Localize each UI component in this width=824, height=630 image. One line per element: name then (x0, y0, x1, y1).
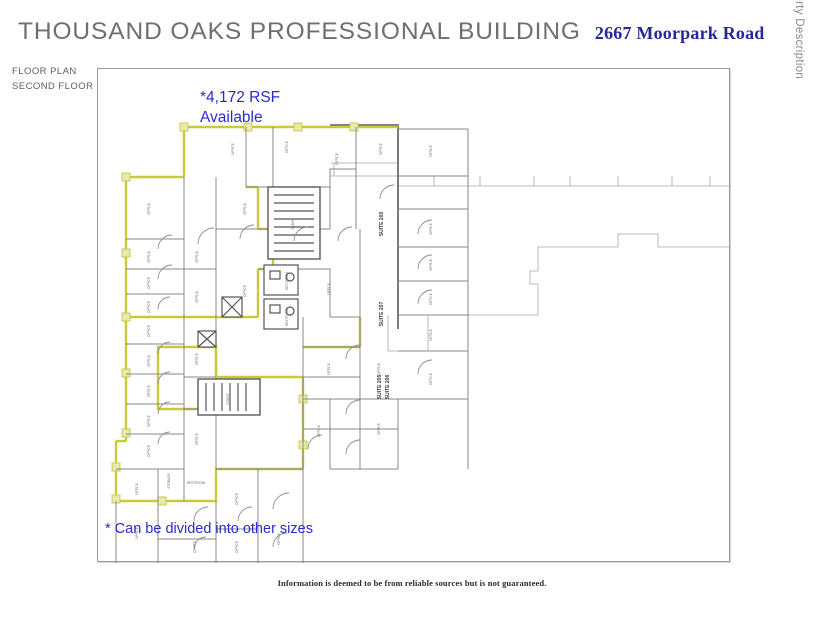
svg-text:OFFICE: OFFICE (147, 325, 151, 337)
right-wing-rooms (398, 129, 468, 469)
available-rsf-value: *4,172 RSF (200, 88, 280, 108)
svg-text:OFFICE: OFFICE (195, 291, 199, 303)
section-tab-property-description[interactable]: Property Description (794, 24, 816, 204)
svg-text:OFFICE: OFFICE (335, 153, 339, 165)
available-space-callout: *4,172 RSF Available (200, 88, 280, 128)
floor-plan-caption-line2: SECOND FLOOR (12, 79, 96, 94)
svg-text:OFFICE: OFFICE (429, 293, 433, 305)
floor-plan-panel: OFFICE OFFICE OFFICE OFFICE OFFICE OFFIC… (97, 68, 730, 562)
svg-text:STAIRS: STAIRS (291, 218, 295, 229)
svg-text:OFFICE: OFFICE (327, 283, 331, 295)
suite-label-200: SUITE 200 (379, 212, 385, 237)
svg-text:OFFICE: OFFICE (429, 223, 433, 235)
svg-text:STAIRS: STAIRS (226, 393, 230, 404)
svg-text:OFFICE: OFFICE (429, 145, 433, 157)
svg-text:OFFICE: OFFICE (195, 353, 199, 365)
svg-text:OFFICE: OFFICE (195, 251, 199, 263)
svg-text:OFFICE: OFFICE (193, 541, 197, 553)
svg-text:OFFICE: OFFICE (235, 541, 239, 553)
svg-text:OFFICE: OFFICE (429, 373, 433, 385)
svg-text:OFFICE: OFFICE (377, 423, 381, 435)
svg-text:OFFICE: OFFICE (147, 203, 151, 215)
svg-text:OFFICE: OFFICE (147, 385, 151, 397)
svg-text:OFFICE: OFFICE (147, 301, 151, 313)
svg-text:OFFICE: OFFICE (243, 285, 247, 297)
svg-text:OFFICE: OFFICE (235, 493, 239, 505)
svg-text:OFFICE: OFFICE (147, 277, 151, 289)
page-header: THOUSAND OAKS PROFESSIONAL BUILDING 2667… (18, 18, 718, 54)
svg-text:OFFICE: OFFICE (147, 251, 151, 263)
svg-text:RESTROOM: RESTROOM (285, 271, 289, 290)
floor-plan-caption: FLOOR PLAN SECOND FLOOR (12, 64, 96, 94)
divisible-note: * Can be divided into other sizes (105, 521, 313, 537)
section-tab-label: Property Description (793, 0, 805, 79)
svg-text:OFFICE: OFFICE (135, 483, 139, 495)
svg-text:RESTROOM: RESTROOM (285, 307, 289, 326)
adjacent-building-outline (331, 163, 731, 351)
svg-text:OFFICE: OFFICE (195, 433, 199, 445)
svg-text:OFFICE: OFFICE (147, 445, 151, 457)
available-space-highlight (126, 127, 398, 317)
floor-plan-drawing: OFFICE OFFICE OFFICE OFFICE OFFICE OFFIC… (98, 69, 731, 563)
svg-text:OFFICE: OFFICE (231, 143, 235, 155)
svg-text:OFFICE: OFFICE (243, 203, 247, 215)
svg-text:STORAGE: STORAGE (167, 473, 171, 489)
floor-plan-caption-line1: FLOOR PLAN (12, 64, 96, 79)
suite-label-206: SUITE 206 (385, 375, 391, 400)
svg-text:RESTROOM: RESTROOM (187, 481, 206, 485)
svg-text:OFFICE: OFFICE (377, 363, 381, 375)
svg-text:OFFICE: OFFICE (147, 355, 151, 367)
svg-text:OFFICE: OFFICE (429, 259, 433, 271)
building-address: 2667 Moorpark Road (595, 23, 765, 44)
svg-text:OFFICE: OFFICE (327, 363, 331, 375)
svg-text:OFFICE: OFFICE (147, 415, 151, 427)
svg-text:OFFICE: OFFICE (317, 425, 321, 437)
disclaimer-text: Information is deemed to be from reliabl… (0, 578, 824, 588)
page-title: THOUSAND OAKS PROFESSIONAL BUILDING (18, 18, 581, 46)
available-label: Available (200, 108, 280, 128)
svg-text:OFFICE: OFFICE (379, 143, 383, 155)
svg-text:OFFICE: OFFICE (285, 141, 289, 153)
suite-label-207: SUITE 207 (379, 302, 385, 327)
svg-text:OFFICE: OFFICE (429, 329, 433, 341)
suite-label-205: SUITE 205 (377, 375, 383, 400)
